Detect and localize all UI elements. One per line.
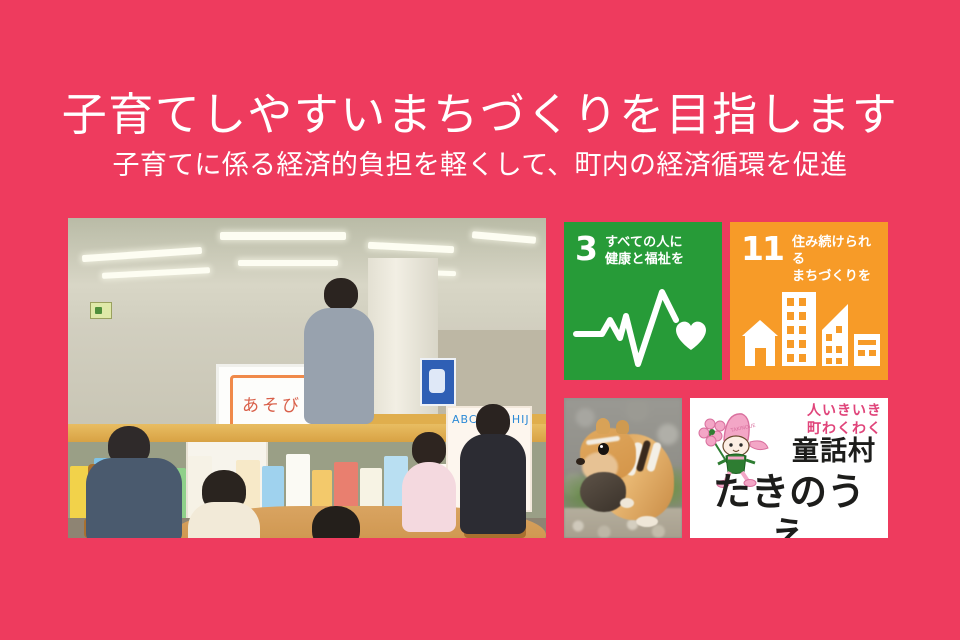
city-buildings-icon	[730, 286, 888, 372]
sdg-badge-3-number: 3	[575, 233, 597, 265]
sdg-badge-3-header: 3 すべての人に 健康と福祉を	[575, 233, 712, 268]
ceiling-light	[220, 232, 346, 240]
sdg-badge-11-title: 住み続けられる まちづくりを	[792, 233, 878, 285]
town-logo-tagline: 人いきいき 町わくわく	[764, 402, 886, 438]
chipmunk-ear-left	[596, 418, 610, 434]
town-logo-name: たきのうえ	[696, 470, 882, 538]
sdg-badge-11-header: 11 住み続けられる まちづくりを	[741, 233, 878, 285]
chipmunk-photo	[564, 398, 682, 538]
chipmunk-paw	[620, 498, 634, 508]
sdg-badge-11-number: 11	[741, 233, 783, 265]
play-area-sign-label: あそび	[230, 375, 314, 431]
pine-cone	[580, 472, 626, 512]
chipmunk-eye	[598, 443, 609, 455]
page-title: 子育てしやすいまちづくりを目指します	[0, 86, 960, 144]
town-logo-tagline-line1: 人いきいき	[764, 402, 882, 420]
town-logo-midtext: 童話村	[782, 438, 886, 466]
sdg-badge-11-title-line2: まちづくりを	[792, 268, 878, 285]
sdg-badge-3-title: すべての人に 健康と福祉を	[605, 233, 684, 268]
sdg-badge-11: 11 住み続けられる まちづくりを	[730, 222, 888, 380]
ceiling-light	[238, 260, 338, 266]
sdg-badge-11-title-line1: 住み続けられる	[792, 234, 878, 268]
sdg-badge-3-title-line1: すべての人に	[605, 234, 684, 251]
exit-sign-icon	[90, 302, 112, 319]
wall-poster	[420, 358, 456, 406]
library-photo: あそび ABCDEFGHIJKLMNOPQRSTUVWXYZ	[68, 218, 546, 538]
heartbeat-ecg-icon	[564, 286, 722, 372]
chipmunk-foot	[636, 516, 658, 527]
headline-block: 子育てしやすいまちづくりを目指します 子育てに係る経済的負担を軽くして、町内の経…	[0, 86, 960, 184]
chipmunk-nose	[576, 458, 585, 465]
sdg-badge-3: 3 すべての人に 健康と福祉を	[564, 222, 722, 380]
page-subtitle: 子育てに係る経済的負担を軽くして、町内の経済循環を促進	[0, 148, 960, 184]
chipmunk-ear-right	[616, 420, 629, 434]
promotional-banner: 子育てしやすいまちづくりを目指します 子育てに係る経済的負担を軽くして、町内の経…	[0, 0, 960, 640]
town-logo: TAKINOUE 人いきいき 町わくわく 童話村 たきのうえ	[690, 398, 888, 538]
sdg-badge-3-title-line2: 健康と福祉を	[605, 251, 684, 268]
